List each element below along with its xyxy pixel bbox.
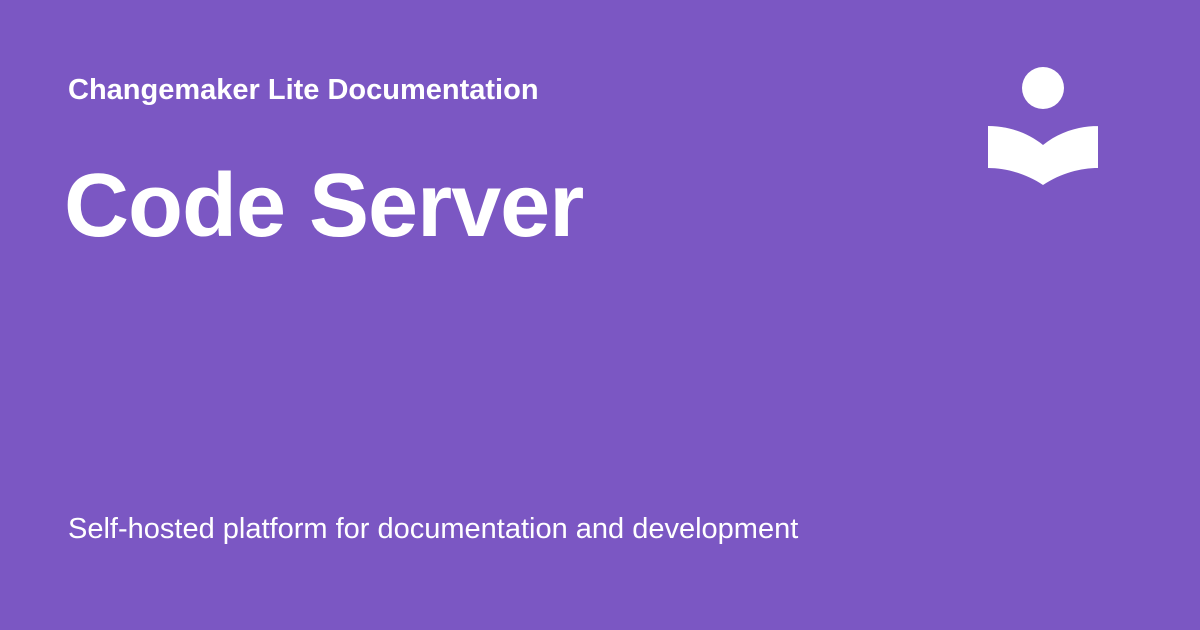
- page-subtitle-container: Self-hosted platform for documentation a…: [68, 512, 1068, 547]
- og-card: Changemaker Lite Documentation Code Serv…: [0, 0, 1200, 630]
- site-header: Changemaker Lite Documentation: [68, 70, 948, 110]
- reader-head-shape: [1022, 67, 1064, 109]
- page-title: Code Server: [64, 160, 1064, 254]
- site-title: Changemaker Lite Documentation: [68, 76, 539, 105]
- page-subtitle: Self-hosted platform for documentation a…: [68, 512, 1068, 547]
- page-title-container: Code Server: [64, 160, 1064, 254]
